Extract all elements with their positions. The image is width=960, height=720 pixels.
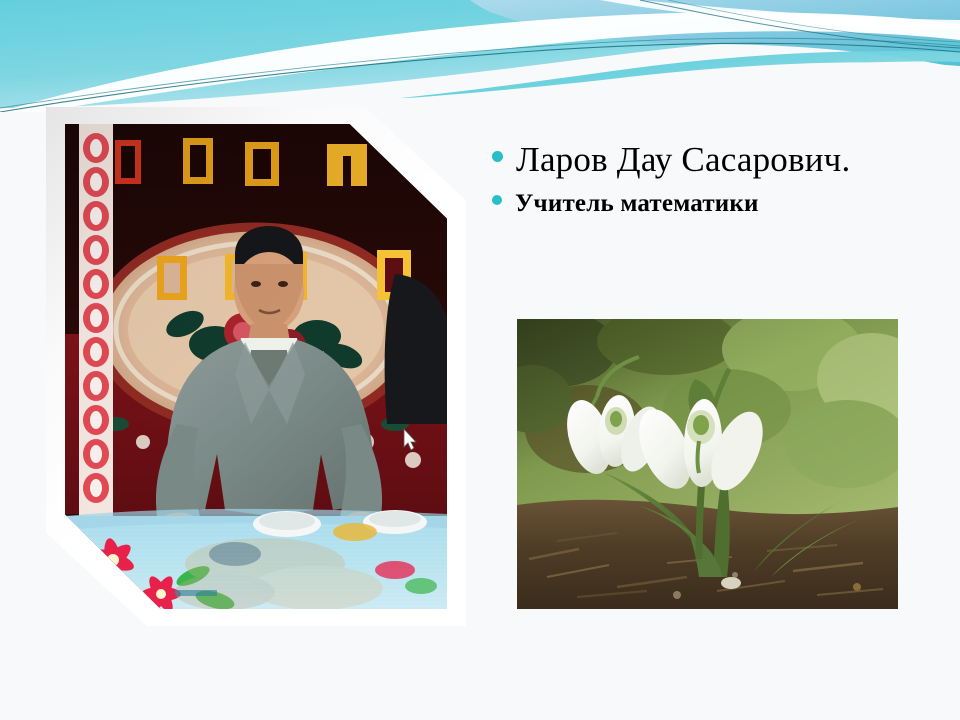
decorative-wave-banner xyxy=(0,0,960,112)
portrait-illustration xyxy=(65,124,447,609)
bullet-item-name[interactable]: Ларов Дау Сасарович. xyxy=(492,140,944,180)
teacher-role-text: Учитель математики xyxy=(515,189,759,219)
snowdrop-flower-photo[interactable] xyxy=(517,319,898,609)
bullet-dot-icon xyxy=(492,195,502,205)
carpet-fringe xyxy=(79,124,113,524)
photo-timestamp xyxy=(175,590,217,596)
bullet-item-role[interactable]: Учитель математики xyxy=(492,189,944,219)
framed-portrait-photo[interactable] xyxy=(46,107,466,626)
food-item xyxy=(333,523,377,541)
presentation-slide: Ларов Дау Сасарович. Учитель математики xyxy=(0,0,960,720)
snowdrop-illustration xyxy=(517,319,898,609)
teacher-name-text: Ларов Дау Сасарович. xyxy=(516,140,850,180)
bullet-dot-icon xyxy=(492,151,503,162)
ground-highlight xyxy=(721,577,741,589)
portrait-image xyxy=(65,124,447,609)
wave-graphic xyxy=(0,0,960,112)
bullet-text-block: Ларов Дау Сасарович. Учитель математики xyxy=(492,140,944,219)
